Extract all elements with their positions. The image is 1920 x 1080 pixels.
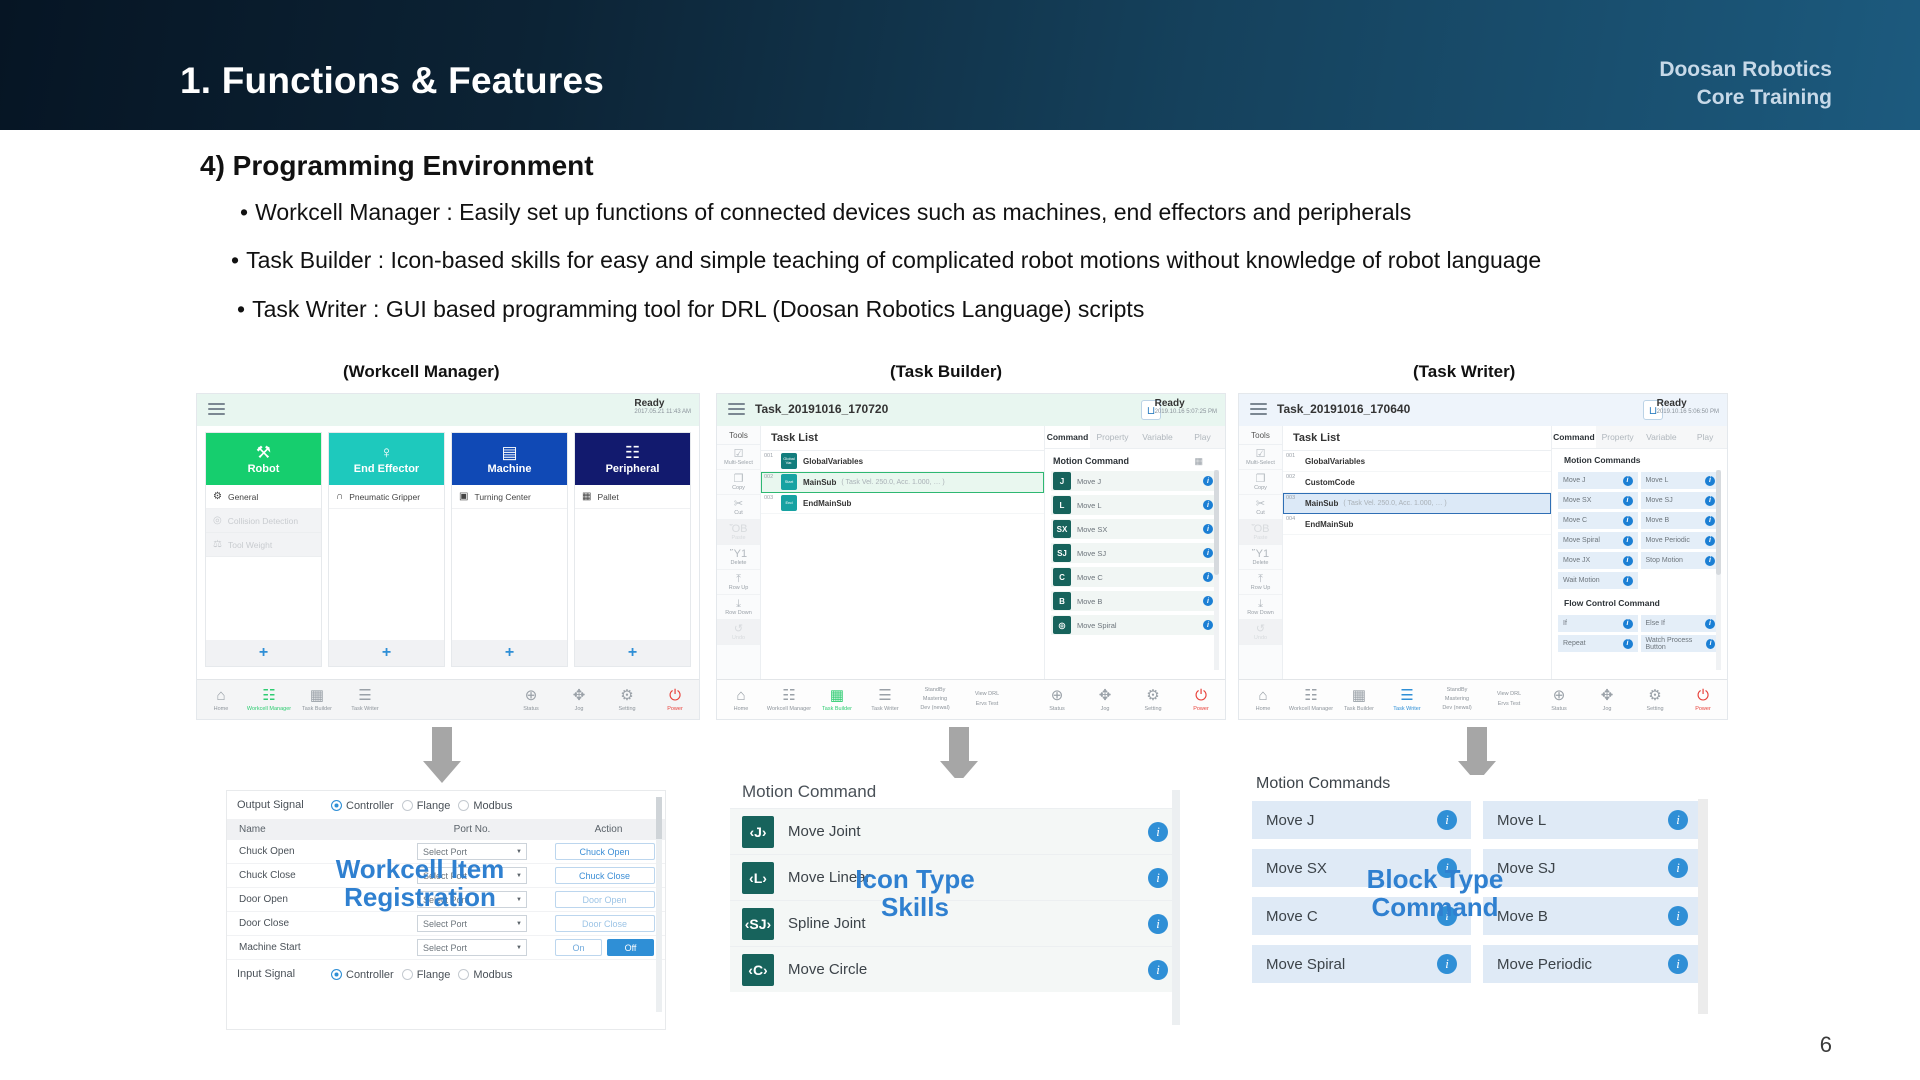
info-icon[interactable]: i <box>1623 576 1633 586</box>
move-j-icon: ‹J› <box>742 816 774 848</box>
list-item-label: Pallet <box>597 492 618 502</box>
tool-label: Row Down <box>725 610 752 616</box>
row-number: 001 <box>1283 451 1303 459</box>
toggle-on-button[interactable]: On <box>555 939 602 956</box>
command-label: Move SJ <box>1077 549 1197 558</box>
info-icon[interactable]: i <box>1203 620 1213 630</box>
task-label: EndMainSub <box>1303 520 1353 529</box>
tool-multi-select[interactable]: ☑ Multi-Select <box>717 445 760 470</box>
toolbar-item-label: Jog <box>1101 706 1110 712</box>
toggle-off-button[interactable]: Off <box>607 939 654 956</box>
tool-label: Delete <box>731 560 747 566</box>
tool-paste[interactable]: ὌB Paste <box>717 520 760 545</box>
task-label: GlobalVariables <box>803 457 863 466</box>
info-icon[interactable]: i <box>1623 496 1633 506</box>
radio-dot-icon <box>458 800 469 811</box>
task-label: EndMainSub <box>803 499 851 508</box>
row-number: 002 <box>761 472 781 480</box>
grid-view-icon[interactable]: ▦ <box>1194 456 1203 467</box>
info-icon[interactable]: i <box>1623 556 1633 566</box>
skill-label: Move Joint <box>788 823 1134 840</box>
scrollbar-track[interactable] <box>656 797 662 1012</box>
radio-label: Controller <box>346 969 394 981</box>
command-cell[interactable]: Move SJ i <box>1641 492 1721 509</box>
list-item[interactable]: J Move J i <box>1051 471 1219 491</box>
tool-label: Undo <box>1254 635 1267 641</box>
toolbar-item-label: Setting <box>1646 706 1663 712</box>
row-up-icon: ⤒ <box>717 573 760 585</box>
command-cell[interactable]: Wait Motion i <box>1558 572 1638 589</box>
input-signal-label: Input Signal <box>237 968 323 980</box>
info-icon[interactable]: i <box>1705 556 1715 566</box>
motion-command-header: Motion Command <box>730 778 1180 808</box>
radio-flange[interactable]: Flange <box>402 967 451 981</box>
item-icon: ◎ <box>213 515 222 526</box>
command-label: If <box>1563 620 1567 627</box>
hamburger-menu-icon[interactable] <box>1250 403 1267 418</box>
jog-icon: ✥ <box>1081 688 1129 703</box>
info-icon[interactable]: i <box>1668 906 1688 926</box>
info-icon[interactable]: i <box>1623 516 1633 526</box>
command-cell[interactable]: Stop Motion i <box>1641 552 1721 569</box>
skill-label: Move Circle <box>788 961 1134 978</box>
action-button[interactable]: Chuck Open <box>555 843 655 860</box>
copy-icon: ❐ <box>1239 473 1282 485</box>
task-name-label: Task_20191016_170720 <box>755 402 888 416</box>
info-icon[interactable]: i <box>1705 516 1715 526</box>
list-item[interactable]: ∩ Pneumatic Gripper <box>329 485 444 509</box>
task-writer-icon: ☰ <box>1383 688 1431 703</box>
workcell-card[interactable]: ⚒ Robot ⚙ General ◎ Collision Detection … <box>205 432 322 667</box>
toolbar-item-label: Jog <box>575 706 584 712</box>
command-tabs: Command Property Variable Play <box>1045 426 1225 449</box>
radio-label: Controller <box>346 800 394 812</box>
info-icon[interactable]: i <box>1148 960 1168 980</box>
peripheral-icon: ☷ <box>625 444 640 461</box>
item-icon: ▦ <box>582 491 591 502</box>
toolbar-item-home[interactable]: ⌂ Home <box>197 688 245 712</box>
jog-icon: ✥ <box>555 688 603 703</box>
command-cell[interactable]: Move L i <box>1641 472 1721 489</box>
table-row: Machine Start Select Port On Off <box>227 936 665 960</box>
command-label: Move L <box>1077 501 1197 510</box>
panel2-topbar: Task_20191016_170720 ⊔ Ready 2019.10.16 … <box>717 394 1225 426</box>
tools-sidebar: Tools ☑ Multi-Select ❐ Copy ✂ Cut ὌB Pas… <box>1239 426 1283 681</box>
card-title: Robot <box>248 463 280 475</box>
tab-play[interactable]: Play <box>1683 426 1727 448</box>
info-icon[interactable]: i <box>1705 619 1715 629</box>
toolbar-item-task-builder[interactable]: ▦ Task Builder <box>293 688 341 712</box>
action-button[interactable]: Door Close <box>555 915 655 932</box>
toolbar-item-status[interactable]: ⊕ Status <box>1535 688 1583 712</box>
tools-sidebar: Tools ☑ Multi-Select ❐ Copy ✂ Cut ὌB Pas… <box>717 426 761 681</box>
setting-icon: ⚙ <box>1129 688 1177 703</box>
info-icon[interactable]: i <box>1623 639 1633 649</box>
scrollbar-thumb[interactable] <box>1214 470 1219 575</box>
command-cell[interactable]: Move L i <box>1483 801 1702 839</box>
toolbar-item-task-writer[interactable]: ☰ Task Writer <box>1383 688 1431 712</box>
task-params: ( Task Vel. 250.0, Acc. 1.000, … ) <box>1343 500 1446 507</box>
command-pane: Command Property Variable Play Motion Co… <box>1045 426 1225 681</box>
command-label: Move Spiral <box>1563 537 1600 544</box>
command-label: Move Periodic <box>1646 537 1690 544</box>
toolbar-item-label: Status <box>1049 706 1065 712</box>
workcell-card[interactable]: ☷ Peripheral ▦ Pallet + <box>574 432 691 667</box>
cut-icon: ✂ <box>717 498 760 510</box>
toolbar-item-task-builder[interactable]: ▦ Task Builder <box>1335 688 1383 712</box>
radio-modbus[interactable]: Modbus <box>458 798 512 812</box>
list-item[interactable]: ⚖ Tool Weight <box>206 533 321 557</box>
column-header-port: Port No. <box>392 824 552 835</box>
command-pane: Command Property Variable Play Motion Co… <box>1552 426 1727 681</box>
scrollbar-thumb[interactable] <box>1716 470 1721 575</box>
bullet-dot: • <box>237 296 245 322</box>
list-item[interactable]: ▣ Turning Center <box>452 485 567 509</box>
command-cell[interactable]: Watch Process Button i <box>1641 635 1721 652</box>
toolbar-item-status[interactable]: ⊕ Status <box>507 688 555 712</box>
list-item[interactable]: ‹C› Move Circle i <box>730 946 1180 992</box>
toolbar-item-task-writer[interactable]: ☰ Task Writer <box>861 688 909 712</box>
toolbar-item-power[interactable]: ⏻ Power <box>1679 688 1727 712</box>
command-label: Move J <box>1266 812 1314 829</box>
panel2-body: Tools ☑ Multi-Select ❐ Copy ✂ Cut ὌB Pas… <box>717 426 1225 681</box>
toolbar-item-setting[interactable]: ⚙ Setting <box>1631 688 1679 712</box>
column-header-name: Name <box>227 824 392 835</box>
move-l-icon: L <box>1053 496 1071 514</box>
setting-icon: ⚙ <box>1631 688 1679 703</box>
command-cell[interactable]: Move SX i <box>1558 492 1638 509</box>
command-cell[interactable]: Move B i <box>1641 512 1721 529</box>
robot-arm-icon: ⚒ <box>256 444 271 461</box>
radio-dot-icon <box>458 969 469 980</box>
card-item-list: ▣ Turning Center <box>452 485 567 640</box>
list-item[interactable]: ⚙ General <box>206 485 321 509</box>
toolbar-item-home[interactable]: ⌂ Home <box>1239 688 1287 712</box>
list-item[interactable]: B Move B i <box>1051 591 1219 611</box>
toolbar-item-jog[interactable]: ✥ Jog <box>1081 688 1129 712</box>
toolbar-item-label: Setting <box>1144 706 1161 712</box>
copy-icon: ❐ <box>717 473 760 485</box>
info-icon[interactable]: i <box>1203 596 1213 606</box>
info-icon[interactable]: i <box>1203 500 1213 510</box>
tool-undo[interactable]: ↺ Undo <box>717 620 760 645</box>
list-item[interactable]: C Move C i <box>1051 567 1219 587</box>
info-icon[interactable]: i <box>1148 822 1168 842</box>
info-icon[interactable]: i <box>1623 536 1633 546</box>
tab-play[interactable]: Play <box>1180 426 1225 448</box>
command-cell[interactable]: Move Periodic i <box>1641 532 1721 549</box>
task-type-chip: Start <box>781 474 797 490</box>
tool-label: Delete <box>1253 560 1269 566</box>
command-cell[interactable]: Else If i <box>1641 615 1721 632</box>
radio-label: Modbus <box>473 969 512 981</box>
command-cell[interactable]: Move Spiral i <box>1558 532 1638 549</box>
tool-multi-select[interactable]: ☑ Multi-Select <box>1239 445 1282 470</box>
add-item-button[interactable]: + <box>329 640 444 666</box>
task-type-chip: End <box>781 495 797 511</box>
power-icon: ⏻ <box>1679 688 1727 703</box>
list-item[interactable]: L Move L i <box>1051 495 1219 515</box>
info-icon[interactable]: i <box>1623 619 1633 629</box>
panel1-bottom-toolbar: ⌂ Home ☷ Workcell Manager ▦ Task Builder… <box>197 679 699 719</box>
table-row[interactable]: 002 Start MainSub ( Task Vel. 250.0, Acc… <box>761 472 1044 493</box>
tool-label: Copy <box>1254 485 1267 491</box>
bullet-text: Task Writer : GUI based programming tool… <box>252 296 1144 322</box>
list-item-label: Collision Detection <box>228 516 298 526</box>
table-row[interactable]: 003 End EndMainSub <box>761 493 1044 514</box>
info-icon[interactable]: i <box>1148 868 1168 888</box>
list-item-label: Turning Center <box>474 492 530 502</box>
info-icon[interactable]: i <box>1705 536 1715 546</box>
toolbar-status-text-2: View DRLErvs Test <box>961 690 1013 708</box>
tool-row-down[interactable]: ⤓ Row Down <box>717 595 760 620</box>
info-icon[interactable]: i <box>1203 524 1213 534</box>
command-label: Move SJ <box>1646 497 1673 504</box>
multi-select-icon: ☑ <box>1239 448 1282 460</box>
radio-dot-icon <box>402 800 413 811</box>
action-button[interactable]: Chuck Close <box>555 867 655 884</box>
info-icon[interactable]: i <box>1148 914 1168 934</box>
tools-header: Tools <box>717 426 760 445</box>
output-signal-label: Output Signal <box>237 799 323 811</box>
slide-root: 1. Functions & Features Doosan Robotics … <box>0 0 1920 1080</box>
toolbar-item-label: Power <box>1695 706 1711 712</box>
tools-list: ☑ Multi-Select ❐ Copy ✂ Cut ὌB Paste Ὕ1 … <box>1239 445 1282 645</box>
caption-task-builder: (Task Builder) <box>890 362 1002 382</box>
motion-commands-header: Motion Commands <box>1558 449 1721 469</box>
command-label: Else If <box>1646 620 1665 627</box>
toolbar-item-jog[interactable]: ✥ Jog <box>1583 688 1631 712</box>
panel3-topbar: Task_20191016_170640 ⊔ Ready 2019.10.16 … <box>1239 394 1727 426</box>
info-icon[interactable]: i <box>1437 954 1457 974</box>
hamburger-menu-icon[interactable] <box>728 403 745 418</box>
toolbar-item-home[interactable]: ⌂ Home <box>717 688 765 712</box>
port-select[interactable]: Select Port <box>417 939 527 956</box>
task-type-chip: Global Var. <box>781 453 797 469</box>
brand-line-2: Core Training <box>1659 84 1832 112</box>
overlay-line: Block Type <box>1320 865 1550 893</box>
tab-property[interactable]: Property <box>1090 426 1135 448</box>
tab-command[interactable]: Command <box>1045 426 1090 448</box>
toolbar-item-task-writer[interactable]: ☰ Task Writer <box>341 688 389 712</box>
overlay-label-icon-type-skills: Icon TypeSkills <box>815 865 1015 921</box>
info-icon[interactable]: i <box>1203 572 1213 582</box>
list-item[interactable]: ◎ Move Spiral i <box>1051 615 1219 635</box>
command-label: Stop Motion <box>1646 557 1683 564</box>
jog-icon: ✥ <box>1583 688 1631 703</box>
toolbar-item-power[interactable]: ⏻ Power <box>651 688 699 712</box>
info-icon[interactable]: i <box>1705 496 1715 506</box>
command-cell[interactable]: Repeat i <box>1558 635 1638 652</box>
move-sj-icon: SJ <box>1053 544 1071 562</box>
overlay-line: Icon Type <box>815 865 1015 893</box>
tool-paste[interactable]: ὌB Paste <box>1239 520 1282 545</box>
table-row[interactable]: 004 EndMainSub <box>1283 514 1551 535</box>
command-cell[interactable]: Move Spiral i <box>1252 945 1471 983</box>
radio-flange[interactable]: Flange <box>402 798 451 812</box>
toolbar-item-jog[interactable]: ✥ Jog <box>555 688 603 712</box>
radio-controller[interactable]: Controller <box>331 798 394 812</box>
info-icon[interactable]: i <box>1705 476 1715 486</box>
command-cell[interactable]: Move C i <box>1558 512 1638 529</box>
card-title: Peripheral <box>606 463 660 475</box>
command-cell[interactable]: Move Periodic i <box>1483 945 1702 983</box>
hamburger-menu-icon[interactable] <box>208 403 225 418</box>
info-icon[interactable]: i <box>1437 810 1457 830</box>
command-label: Move L <box>1646 477 1669 484</box>
gripper-icon: ♀ <box>380 444 393 461</box>
status-label: Ready <box>1155 398 1217 409</box>
list-item[interactable]: ◎ Collision Detection <box>206 509 321 533</box>
overlay-line: Command <box>1320 893 1550 921</box>
command-cell[interactable]: Move J i <box>1252 801 1471 839</box>
move-b-icon: B <box>1053 592 1071 610</box>
toolbar-item-setting[interactable]: ⚙ Setting <box>1129 688 1177 712</box>
radio-dot-icon <box>402 969 413 980</box>
workcell-card[interactable]: ▤ Machine ▣ Turning Center + <box>451 432 568 667</box>
screenshot-task-writer: Task_20191016_170640 ⊔ Ready 2019.10.16 … <box>1238 393 1728 720</box>
status-timestamp: 2019.10.16 5:07:25 PM <box>1155 409 1217 415</box>
add-item-button[interactable]: + <box>452 640 567 666</box>
tab-variable[interactable]: Variable <box>1640 426 1684 448</box>
signal-name: Door Close <box>227 918 392 929</box>
tool-delete[interactable]: Ὕ1 Delete <box>1239 545 1282 570</box>
toolbar-item-power[interactable]: ⏻ Power <box>1177 688 1225 712</box>
tool-label: Cut <box>1256 510 1265 516</box>
list-item[interactable]: SJ Move SJ i <box>1051 543 1219 563</box>
action-button[interactable]: Door Open <box>555 891 655 908</box>
workcell-card[interactable]: ♀ End Effector ∩ Pneumatic Gripper + <box>328 432 445 667</box>
screenshot-task-builder: Task_20191016_170720 ⊔ Ready 2019.10.16 … <box>716 393 1226 720</box>
table-row[interactable]: 002 CustomCode <box>1283 472 1551 493</box>
card-item-list: ⚙ General ◎ Collision Detection ⚖ Tool W… <box>206 485 321 640</box>
tab-property[interactable]: Property <box>1596 426 1640 448</box>
command-label: Move SX <box>1266 860 1327 877</box>
tool-cut[interactable]: ✂ Cut <box>1239 495 1282 520</box>
list-item[interactable]: SX Move SX i <box>1051 519 1219 539</box>
radio-dot-icon <box>331 800 342 811</box>
info-icon[interactable]: i <box>1623 476 1633 486</box>
tab-command[interactable]: Command <box>1552 426 1596 448</box>
command-cell[interactable]: Move JX i <box>1558 552 1638 569</box>
tool-label: Row Down <box>1247 610 1274 616</box>
card-header: ▤ Machine <box>452 433 567 485</box>
tool-copy[interactable]: ❐ Copy <box>717 470 760 495</box>
status-badge: Ready 2019.10.16 5:06:50 PM <box>1657 398 1719 415</box>
info-icon[interactable]: i <box>1668 858 1688 878</box>
command-cell[interactable]: If i <box>1558 615 1638 632</box>
tool-undo[interactable]: ↺ Undo <box>1239 620 1282 645</box>
bullet-dot: • <box>231 247 239 273</box>
row-number: 001 <box>761 451 781 459</box>
setting-icon: ⚙ <box>603 688 651 703</box>
card-item-list: ▦ Pallet <box>575 485 690 640</box>
item-icon: ⚙ <box>213 491 222 502</box>
list-item[interactable]: ▦ Pallet <box>575 485 690 509</box>
add-item-button[interactable]: + <box>575 640 690 666</box>
tool-label: Multi-Select <box>724 460 753 466</box>
info-icon[interactable]: i <box>1706 639 1715 649</box>
toolbar-item-workcell-manager[interactable]: ☷ Workcell Manager <box>765 688 813 712</box>
toolbar-item-workcell-manager[interactable]: ☷ Workcell Manager <box>1287 688 1335 712</box>
add-item-button[interactable]: + <box>206 640 321 666</box>
radio-modbus[interactable]: Modbus <box>458 967 512 981</box>
scrollbar-track[interactable] <box>1698 799 1708 1014</box>
task-list-header: Task List <box>761 426 1044 451</box>
toolbar-item-status[interactable]: ⊕ Status <box>1033 688 1081 712</box>
toolbar-item-label: Task Builder <box>822 706 852 712</box>
list-item[interactable]: ‹J› Move Joint i <box>730 808 1180 854</box>
toolbar-item-workcell-manager[interactable]: ☷ Workcell Manager <box>245 688 293 712</box>
table-row[interactable]: 003 MainSub ( Task Vel. 250.0, Acc. 1.00… <box>1283 493 1551 514</box>
tool-label: Multi-Select <box>1246 460 1275 466</box>
row-number: 003 <box>1283 493 1303 501</box>
move-sj-icon: ‹SJ› <box>742 908 774 940</box>
tools-header: Tools <box>1239 426 1282 445</box>
card-header: ♀ End Effector <box>329 433 444 485</box>
command-cell[interactable]: Move J i <box>1558 472 1638 489</box>
tools-list: ☑ Multi-Select ❐ Copy ✂ Cut ὌB Paste Ὕ1 … <box>717 445 760 645</box>
tool-row-up[interactable]: ⤒ Row Up <box>1239 570 1282 595</box>
command-label: Move B <box>1077 597 1197 606</box>
card-title: Machine <box>487 463 531 475</box>
port-select[interactable]: Select Port <box>417 915 527 932</box>
status-badge: Ready 2017.05.21 11:43 AM <box>634 398 691 415</box>
radio-label: Flange <box>417 969 451 981</box>
move-c-icon: C <box>1053 568 1071 586</box>
info-icon[interactable]: i <box>1668 810 1688 830</box>
command-tabs: Command Property Variable Play <box>1552 426 1727 449</box>
info-icon[interactable]: i <box>1203 476 1213 486</box>
tool-row-down[interactable]: ⤓ Row Down <box>1239 595 1282 620</box>
row-number: 002 <box>1283 472 1303 480</box>
item-icon: ▣ <box>459 491 468 502</box>
tool-delete[interactable]: Ὕ1 Delete <box>717 545 760 570</box>
move-l-icon: ‹L› <box>742 862 774 894</box>
tab-variable[interactable]: Variable <box>1135 426 1180 448</box>
scrollbar-track[interactable] <box>1172 790 1180 1025</box>
info-icon[interactable]: i <box>1668 954 1688 974</box>
table-row[interactable]: 001 Global Var. GlobalVariables <box>761 451 1044 472</box>
table-header-row: Name Port No. Action <box>227 819 665 840</box>
power-icon: ⏻ <box>1177 688 1225 703</box>
toolbar-item-setting[interactable]: ⚙ Setting <box>603 688 651 712</box>
home-icon: ⌂ <box>197 688 245 703</box>
tool-label: Copy <box>732 485 745 491</box>
signal-name: Machine Start <box>227 942 392 953</box>
screenshot-workcell-manager: Ready 2017.05.21 11:43 AM ⚒ Robot ⚙ Gene… <box>196 393 700 720</box>
task-label: GlobalVariables <box>1303 457 1365 466</box>
toolbar-item-task-builder[interactable]: ▦ Task Builder <box>813 688 861 712</box>
command-label: Move J <box>1563 477 1586 484</box>
brand-block: Doosan Robotics Core Training <box>1659 56 1832 113</box>
down-arrow-icon <box>940 727 978 783</box>
move-j-icon: J <box>1053 472 1071 490</box>
tool-row-up[interactable]: ⤒ Row Up <box>717 570 760 595</box>
status-timestamp: 2019.10.16 5:06:50 PM <box>1657 409 1719 415</box>
panel2-bottom-toolbar: ⌂ Home ☷ Workcell Manager ▦ Task Builder… <box>717 679 1225 719</box>
down-arrow-icon <box>423 727 461 783</box>
tool-cut[interactable]: ✂ Cut <box>717 495 760 520</box>
task-params: ( Task Vel. 250.0, Acc. 1.000, … ) <box>841 479 944 486</box>
info-icon[interactable]: i <box>1203 548 1213 558</box>
task-writer-icon: ☰ <box>341 688 389 703</box>
table-row[interactable]: 001 GlobalVariables <box>1283 451 1551 472</box>
tool-copy[interactable]: ❐ Copy <box>1239 470 1282 495</box>
tool-label: Cut <box>734 510 743 516</box>
radio-controller[interactable]: Controller <box>331 967 394 981</box>
task-list-pane: Task List 001 GlobalVariables 002 Custom… <box>1283 426 1552 681</box>
